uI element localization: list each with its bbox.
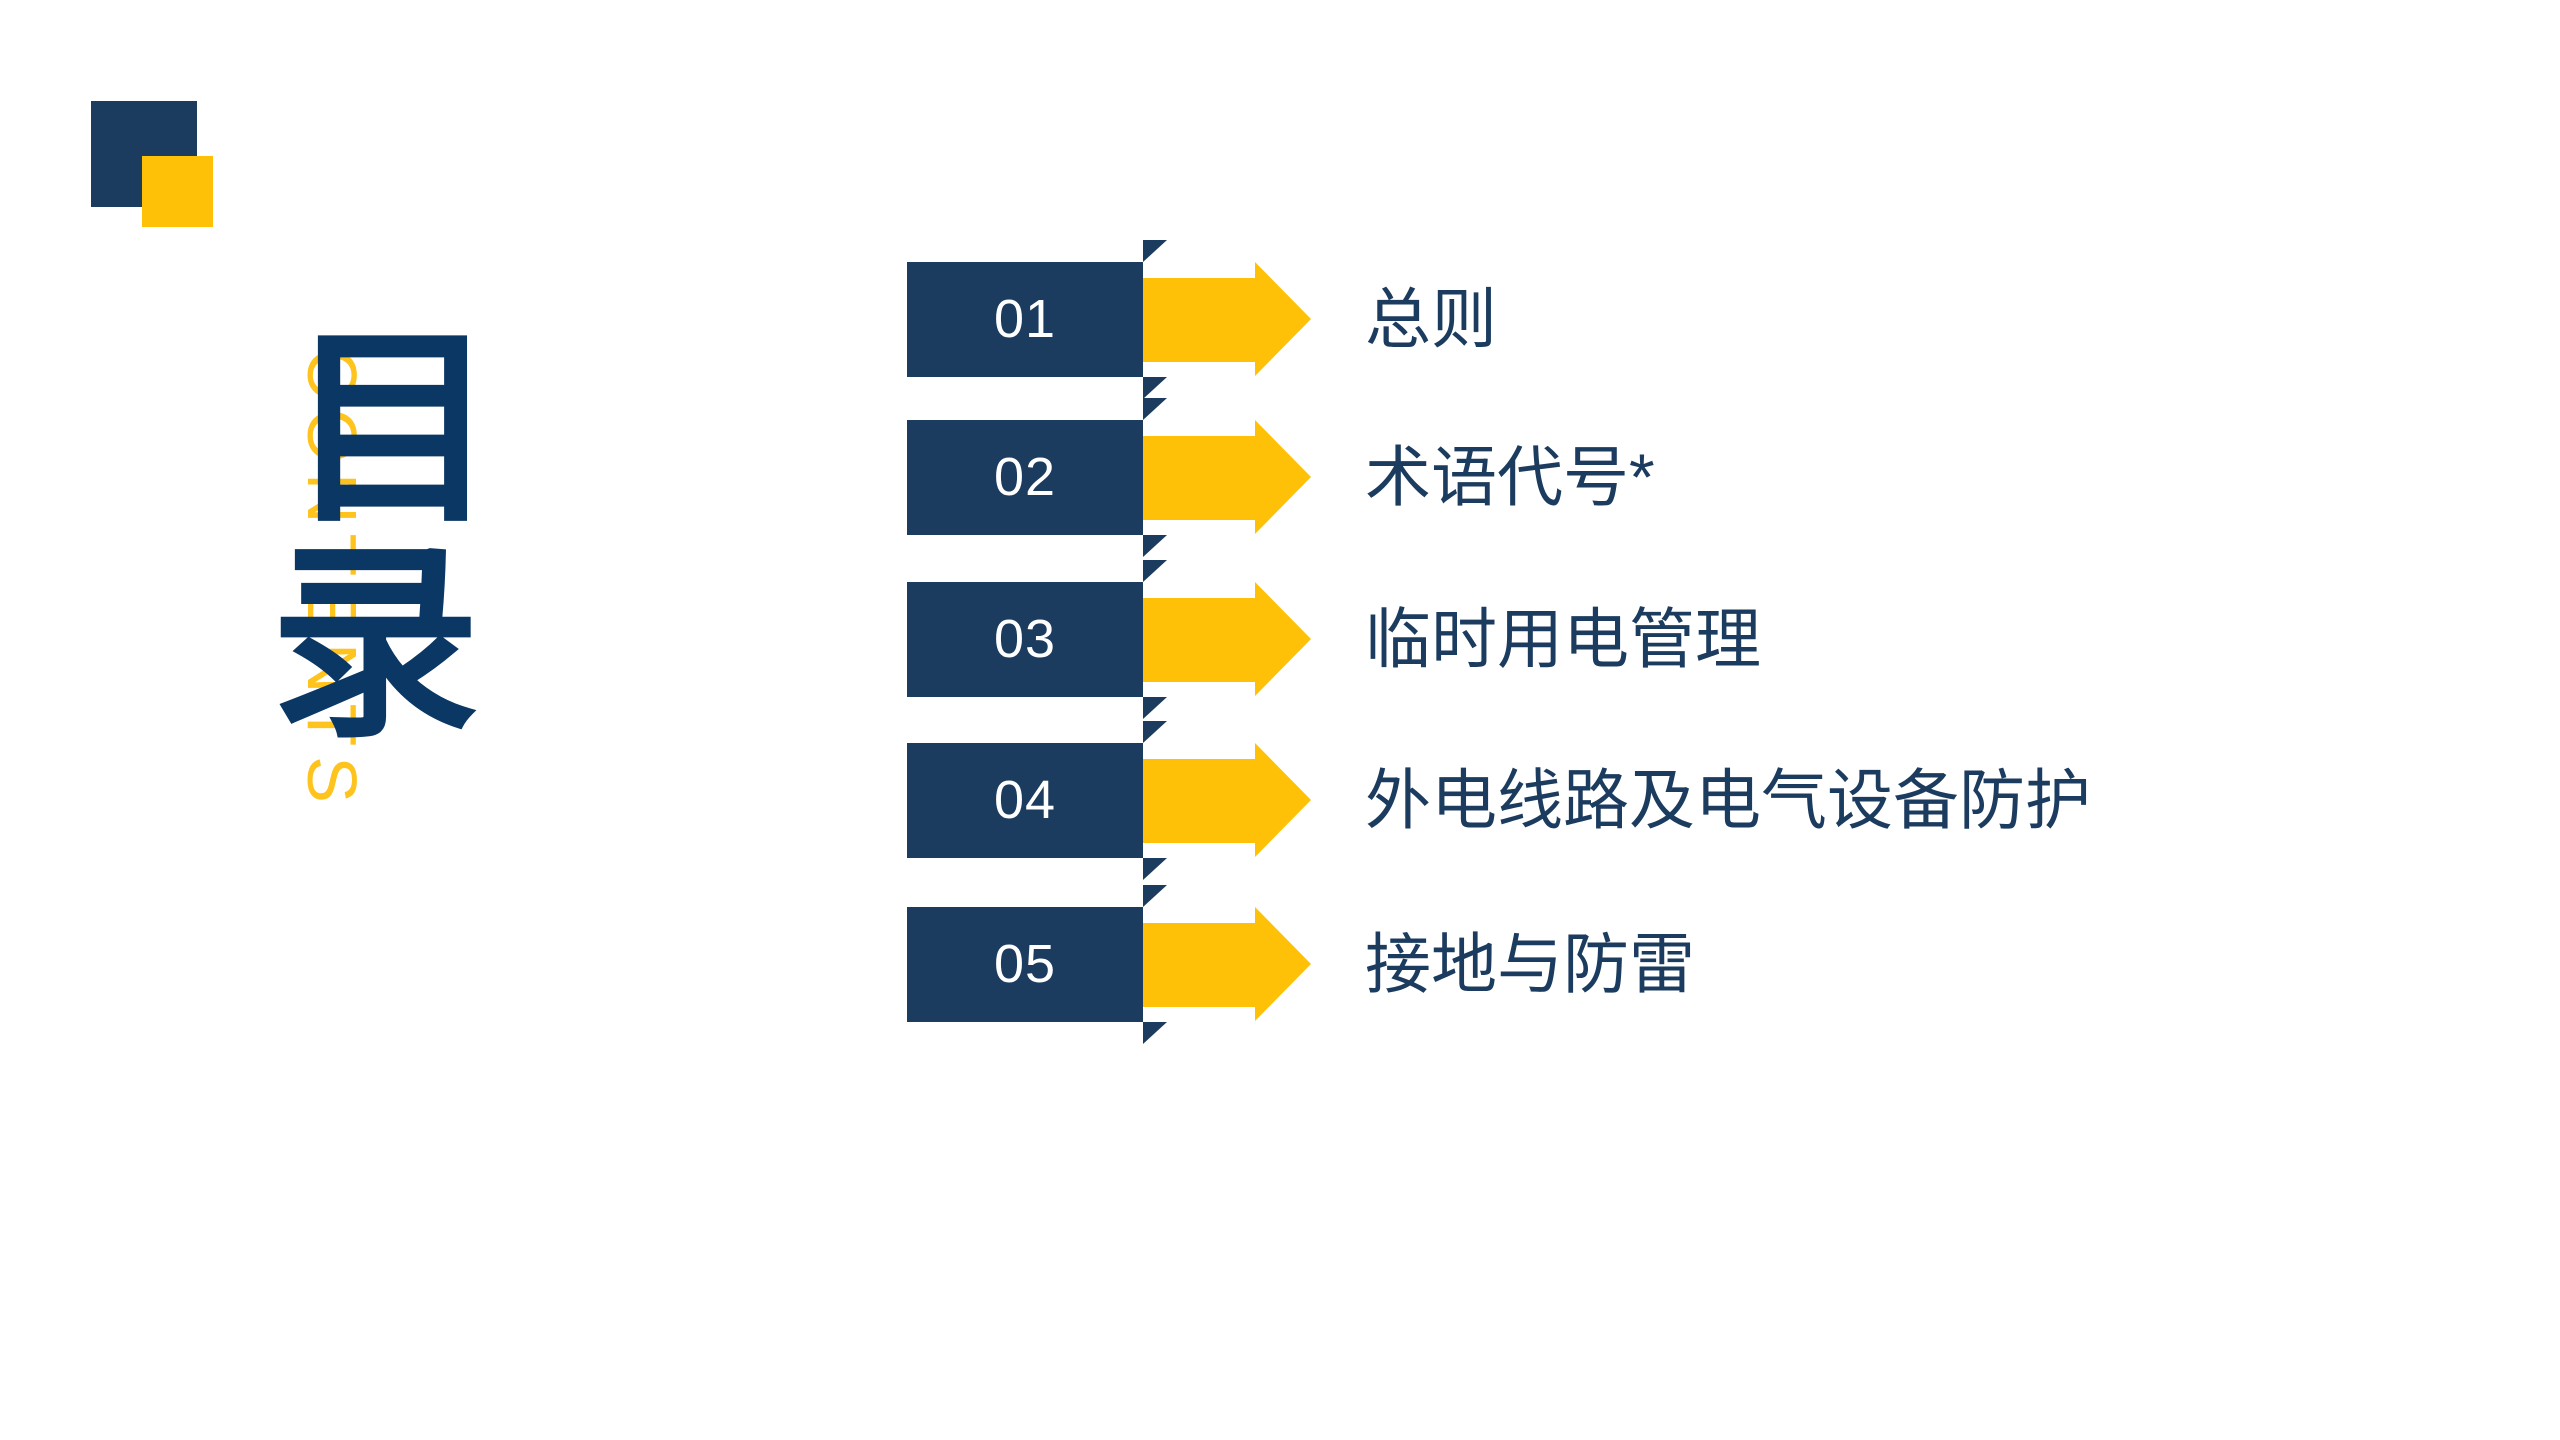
arrow-right-icon bbox=[1143, 420, 1311, 535]
agenda-item-label[interactable]: 临时用电管理 bbox=[1365, 582, 1761, 697]
arrow-shaft bbox=[1143, 436, 1256, 520]
slide-canvas: CONTENTS 目 录 01 总则 02 bbox=[0, 0, 2560, 1440]
arrow-head bbox=[1255, 420, 1311, 534]
agenda-row-graphic: 04 bbox=[907, 721, 1327, 879]
agenda-number-badge: 03 bbox=[907, 582, 1143, 697]
agenda-row-graphic: 01 bbox=[907, 240, 1327, 398]
corner-triangle-bottom-icon bbox=[1143, 1022, 1167, 1044]
corner-triangle-top-icon bbox=[1143, 240, 1167, 262]
arrow-shaft bbox=[1143, 923, 1256, 1007]
arrow-right-icon bbox=[1143, 262, 1311, 377]
agenda-row-04[interactable]: 04 外电线路及电气设备防护 bbox=[907, 721, 2507, 879]
arrow-shaft bbox=[1143, 598, 1256, 682]
corner-triangle-top-icon bbox=[1143, 721, 1167, 743]
corner-triangle-top-icon bbox=[1143, 885, 1167, 907]
agenda-row-02[interactable]: 02 术语代号* bbox=[907, 398, 2507, 556]
arrow-shaft bbox=[1143, 278, 1256, 362]
corner-triangle-bottom-icon bbox=[1143, 535, 1167, 557]
corner-triangle-bottom-icon bbox=[1143, 697, 1167, 719]
agenda-number-badge: 01 bbox=[907, 262, 1143, 377]
arrow-head bbox=[1255, 907, 1311, 1021]
agenda-row-03[interactable]: 03 临时用电管理 bbox=[907, 560, 2507, 718]
arrow-shaft bbox=[1143, 759, 1256, 843]
arrow-head bbox=[1255, 262, 1311, 376]
agenda-row-05[interactable]: 05 接地与防雷 bbox=[907, 885, 2507, 1043]
arrow-head bbox=[1255, 582, 1311, 696]
arrow-right-icon bbox=[1143, 743, 1311, 858]
arrow-head bbox=[1255, 743, 1311, 857]
corner-triangle-bottom-icon bbox=[1143, 377, 1167, 399]
agenda-number-badge: 05 bbox=[907, 907, 1143, 1022]
arrow-right-icon bbox=[1143, 582, 1311, 697]
agenda-item-label[interactable]: 外电线路及电气设备防护 bbox=[1365, 743, 2091, 858]
corner-triangle-top-icon bbox=[1143, 398, 1167, 420]
agenda-item-label[interactable]: 术语代号* bbox=[1365, 420, 1655, 535]
agenda-number-badge: 02 bbox=[907, 420, 1143, 535]
page-title: 目 录 bbox=[288, 330, 548, 750]
agenda-number-badge: 04 bbox=[907, 743, 1143, 858]
page-title-char-2: 录 bbox=[270, 545, 548, 750]
agenda-row-01[interactable]: 01 总则 bbox=[907, 240, 2507, 398]
logo-mark bbox=[91, 101, 251, 231]
agenda-row-graphic: 03 bbox=[907, 560, 1327, 718]
title-block: CONTENTS 目 录 bbox=[180, 330, 580, 830]
arrow-right-icon bbox=[1143, 907, 1311, 1022]
yellow-square-icon bbox=[142, 156, 213, 227]
agenda-item-label[interactable]: 接地与防雷 bbox=[1365, 907, 1695, 1022]
agenda-row-graphic: 05 bbox=[907, 885, 1327, 1043]
corner-triangle-top-icon bbox=[1143, 560, 1167, 582]
agenda-row-graphic: 02 bbox=[907, 398, 1327, 556]
page-title-char-1: 目 bbox=[288, 330, 548, 535]
corner-triangle-bottom-icon bbox=[1143, 858, 1167, 880]
agenda-list: 01 总则 02 术语代号* bbox=[907, 240, 2507, 1040]
agenda-item-label[interactable]: 总则 bbox=[1365, 262, 1497, 377]
